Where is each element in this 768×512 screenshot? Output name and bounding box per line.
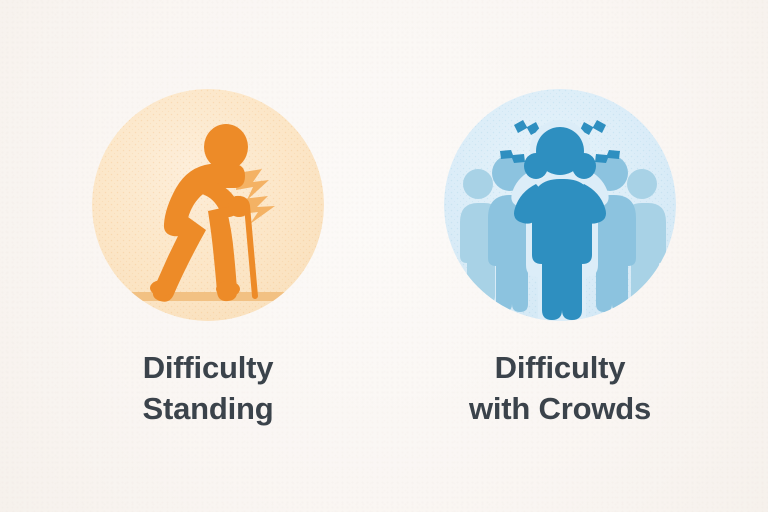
illustration-canvas: Difficulty Standing: [0, 0, 768, 512]
card-label: Difficulty Standing: [143, 347, 274, 429]
icon-card-row: Difficulty Standing: [0, 0, 768, 512]
stressed-person-in-crowd-icon: [444, 89, 676, 321]
card-difficulty-standing[interactable]: Difficulty Standing: [83, 89, 333, 429]
ground-line: [120, 292, 296, 301]
elderly-person-with-cane-icon: [92, 89, 324, 321]
card-difficulty-with-crowds[interactable]: Difficulty with Crowds: [435, 89, 685, 429]
card-label: Difficulty with Crowds: [469, 347, 651, 429]
